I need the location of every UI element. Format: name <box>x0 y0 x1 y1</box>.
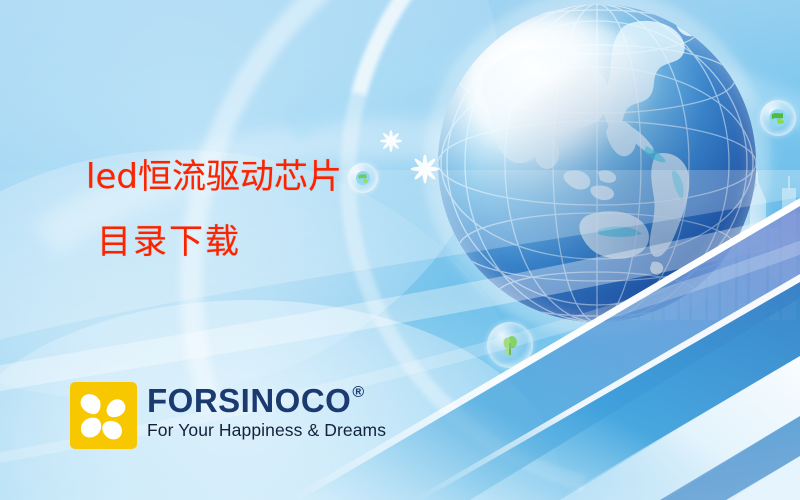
flower-burst-icon <box>378 128 404 154</box>
brand-tagline: For Your Happiness & Dreams <box>147 420 386 441</box>
brand-logo[interactable]: FORSINOCO® For Your Happiness & Dreams <box>70 382 386 449</box>
brand-text: FORSINOCO <box>147 384 351 417</box>
logo-wordmark: FORSINOCO® For Your Happiness & Dreams <box>147 382 386 441</box>
headline-line-1: led恒流驱动芯片 <box>86 160 342 195</box>
mini-globe-icon <box>768 108 788 128</box>
headline: led恒流驱动芯片 目录下载 <box>86 160 342 261</box>
banner-canvas: led恒流驱动芯片 目录下载 FORSINOCO® <box>0 0 800 500</box>
four-petal-pinwheel-icon <box>70 382 137 449</box>
brand-name: FORSINOCO® <box>147 384 386 417</box>
registered-trademark-icon: ® <box>352 385 364 401</box>
headline-line-2: 目录下载 <box>97 225 342 260</box>
globe-bubble-icon <box>760 100 796 136</box>
